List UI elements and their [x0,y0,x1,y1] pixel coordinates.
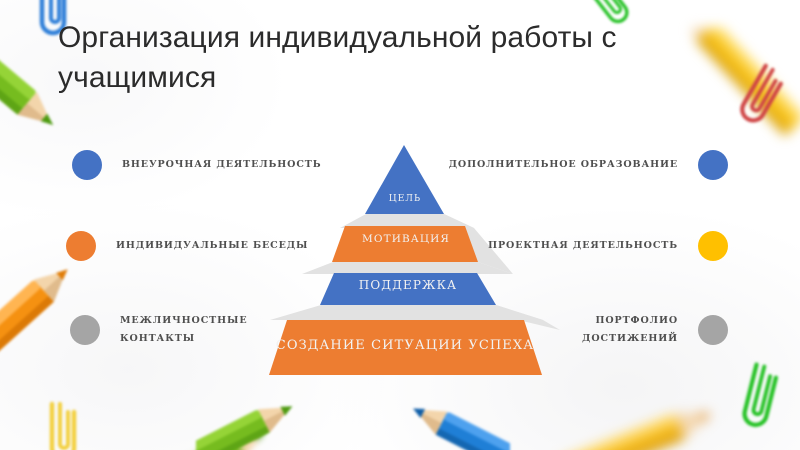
pyramid-shadow-3b [496,305,560,330]
paperclip-green-bottom-right-icon [728,360,788,440]
slide-canvas: Организация индивидуальной работы с учащ… [0,0,800,450]
pencil-yellow-top-right-icon [690,28,800,158]
bullet-dot-left-3 [70,315,100,345]
pyramid-shadow-2 [302,262,513,274]
bullet-right-2-label: ПРОЕКТНАЯ ДЕЯТЕЛЬНОСТЬ [488,237,678,255]
bullet-dot-right-2 [698,231,728,261]
bullet-right-1-label: ДОПОЛНИТЕЛЬНОЕ ОБРАЗОВАНИЕ [449,156,678,174]
bullet-right-3[interactable]: ПОРТФОЛИО ДОСТИЖЕНИЙ [582,312,728,347]
pyramid-level-4-label: СОЗДАНИЕ СИТУАЦИИ УСПЕХА [268,338,542,353]
pencil-yellow-bottom-right-icon [560,380,730,450]
bullet-dot-left-2 [66,231,96,261]
bullet-dot-left-1 [72,150,102,180]
bullet-dot-right-1 [698,150,728,180]
pencil-blue-bottom-icon [390,384,510,450]
slide-title: Организация индивидуальной работы с учащ… [58,18,658,98]
bullet-left-1[interactable]: ВНЕУРОЧНАЯ ДЕЯТЕЛЬНОСТЬ [72,150,321,180]
pyramid-level-1 [365,145,444,214]
bullet-left-3[interactable]: МЕЖЛИЧНОСТНЫЕ КОНТАКТЫ [70,312,248,347]
pyramid-level-2-label: МОТИВАЦИЯ [332,233,480,245]
bullet-right-1[interactable]: ДОПОЛНИТЕЛЬНОЕ ОБРАЗОВАНИЕ [449,150,728,180]
pencil-green-bottom-icon [196,384,306,450]
bullet-right-2[interactable]: ПРОЕКТНАЯ ДЕЯТЕЛЬНОСТЬ [488,231,728,261]
bullet-left-3-label: МЕЖЛИЧНОСТНЫЕ КОНТАКТЫ [120,312,248,347]
pyramid-shadow-1 [340,214,474,228]
paperclip-yellow-bottom-left-icon [32,400,92,450]
pyramid-shadow-3 [270,305,543,320]
pyramid-level-2 [332,226,478,262]
bullet-right-3-label: ПОРТФОЛИО ДОСТИЖЕНИЙ [582,312,678,347]
bullet-left-1-label: ВНЕУРОЧНАЯ ДЕЯТЕЛЬНОСТЬ [122,156,321,174]
bullet-dot-right-3 [698,315,728,345]
paperclip-red-top-right-icon [726,60,796,140]
pyramid-level-4 [269,320,542,375]
bullet-left-2[interactable]: ИНДИВИДУАЛЬНЫЕ БЕСЕДЫ [66,231,308,261]
pencil-green-bottom-left-icon [178,412,268,450]
pyramid-level-1-label: ЦЕЛЬ [365,194,445,204]
pyramid-level-3-label: ПОДДЕРЖКА [320,278,496,292]
pyramid-level-3 [320,273,496,305]
bullet-left-2-label: ИНДИВИДУАЛЬНЫЕ БЕСЕДЫ [116,237,308,255]
